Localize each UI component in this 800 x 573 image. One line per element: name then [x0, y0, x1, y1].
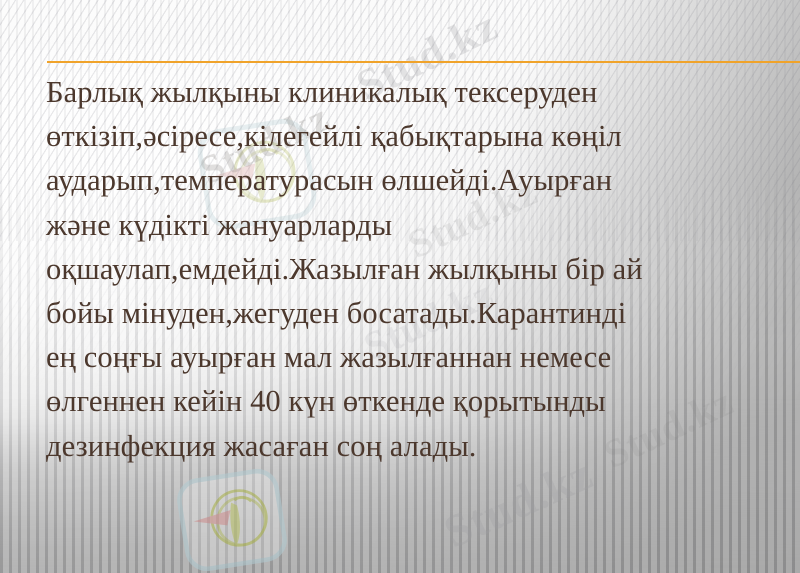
orange-rule	[47, 61, 800, 63]
presentation-slide: Stud.kz Stud.kz Stud.kz Stud.kz Stud.kz …	[0, 0, 800, 573]
slide-body-text: Барлық жылқыны клиникалық тексеруден өтк…	[46, 70, 770, 468]
